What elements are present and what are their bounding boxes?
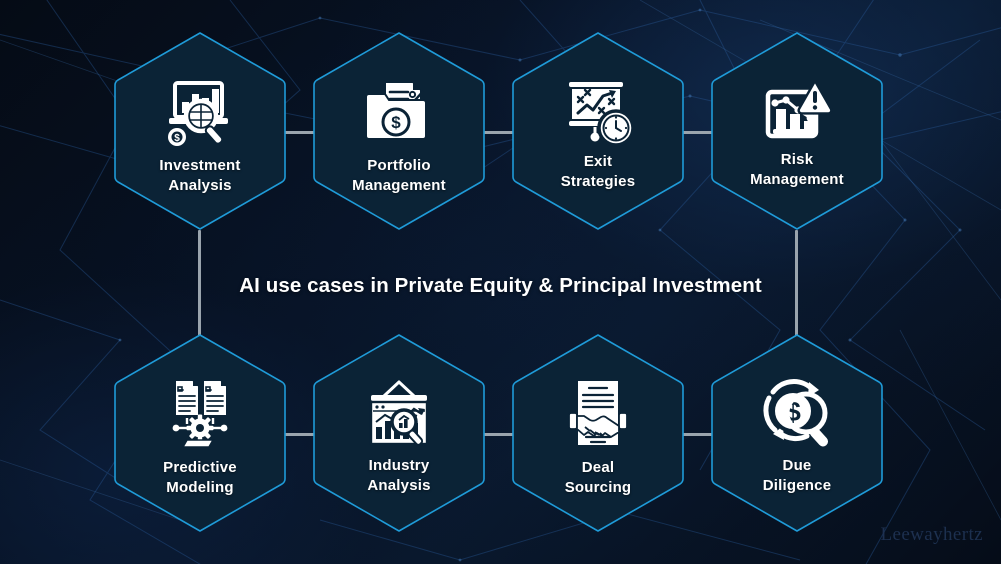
hex-label-predictive-modeling: Predictive Modeling [112, 458, 288, 498]
hex-node-risk-management[interactable]: Risk Management [709, 30, 885, 232]
hex-node-deal-sourcing[interactable]: Deal Sourcing [510, 332, 686, 534]
folder-document-percent-dollar-icon: $ [311, 78, 487, 146]
svg-text:$: $ [391, 113, 401, 132]
hex-node-predictive-modeling[interactable]: Predictive Modeling [112, 332, 288, 534]
infographic-canvas: $ Investment Analysis [0, 0, 1001, 564]
documents-gear-data-icon [112, 378, 288, 448]
chart-magnifier-dollar-icon: $ [112, 80, 288, 146]
page-title: AI use cases in Private Equity & Princip… [0, 274, 1001, 298]
hex-node-due-diligence[interactable]: $ Due Diligence [709, 332, 885, 534]
hex-node-investment-analysis[interactable]: $ Investment Analysis [112, 30, 288, 232]
presentation-trend-clock-icon [510, 80, 686, 146]
hex-label-risk-management: Risk Management [709, 150, 885, 190]
document-handshake-icon [510, 378, 686, 448]
hex-node-industry-analysis[interactable]: Industry Analysis [311, 332, 487, 534]
board-bars-magnifier-icon [311, 380, 487, 448]
hex-label-deal-sourcing: Deal Sourcing [510, 458, 686, 498]
hex-label-investment-analysis: Investment Analysis [112, 156, 288, 196]
dollar-magnifier-refresh-icon: $ [709, 378, 885, 448]
declining-bars-warning-icon [709, 76, 885, 144]
watermark-leewayhertz: Leewayhertz [881, 524, 984, 546]
hex-node-portfolio-management[interactable]: $ Portfolio Management [311, 30, 487, 232]
hex-label-exit-strategies: Exit Strategies [510, 152, 686, 192]
hex-label-portfolio-management: Portfolio Management [311, 156, 487, 196]
hex-label-industry-analysis: Industry Analysis [311, 456, 487, 496]
hex-label-due-diligence: Due Diligence [709, 456, 885, 496]
hex-node-exit-strategies[interactable]: Exit Strategies [510, 30, 686, 232]
svg-text:$: $ [174, 133, 180, 144]
